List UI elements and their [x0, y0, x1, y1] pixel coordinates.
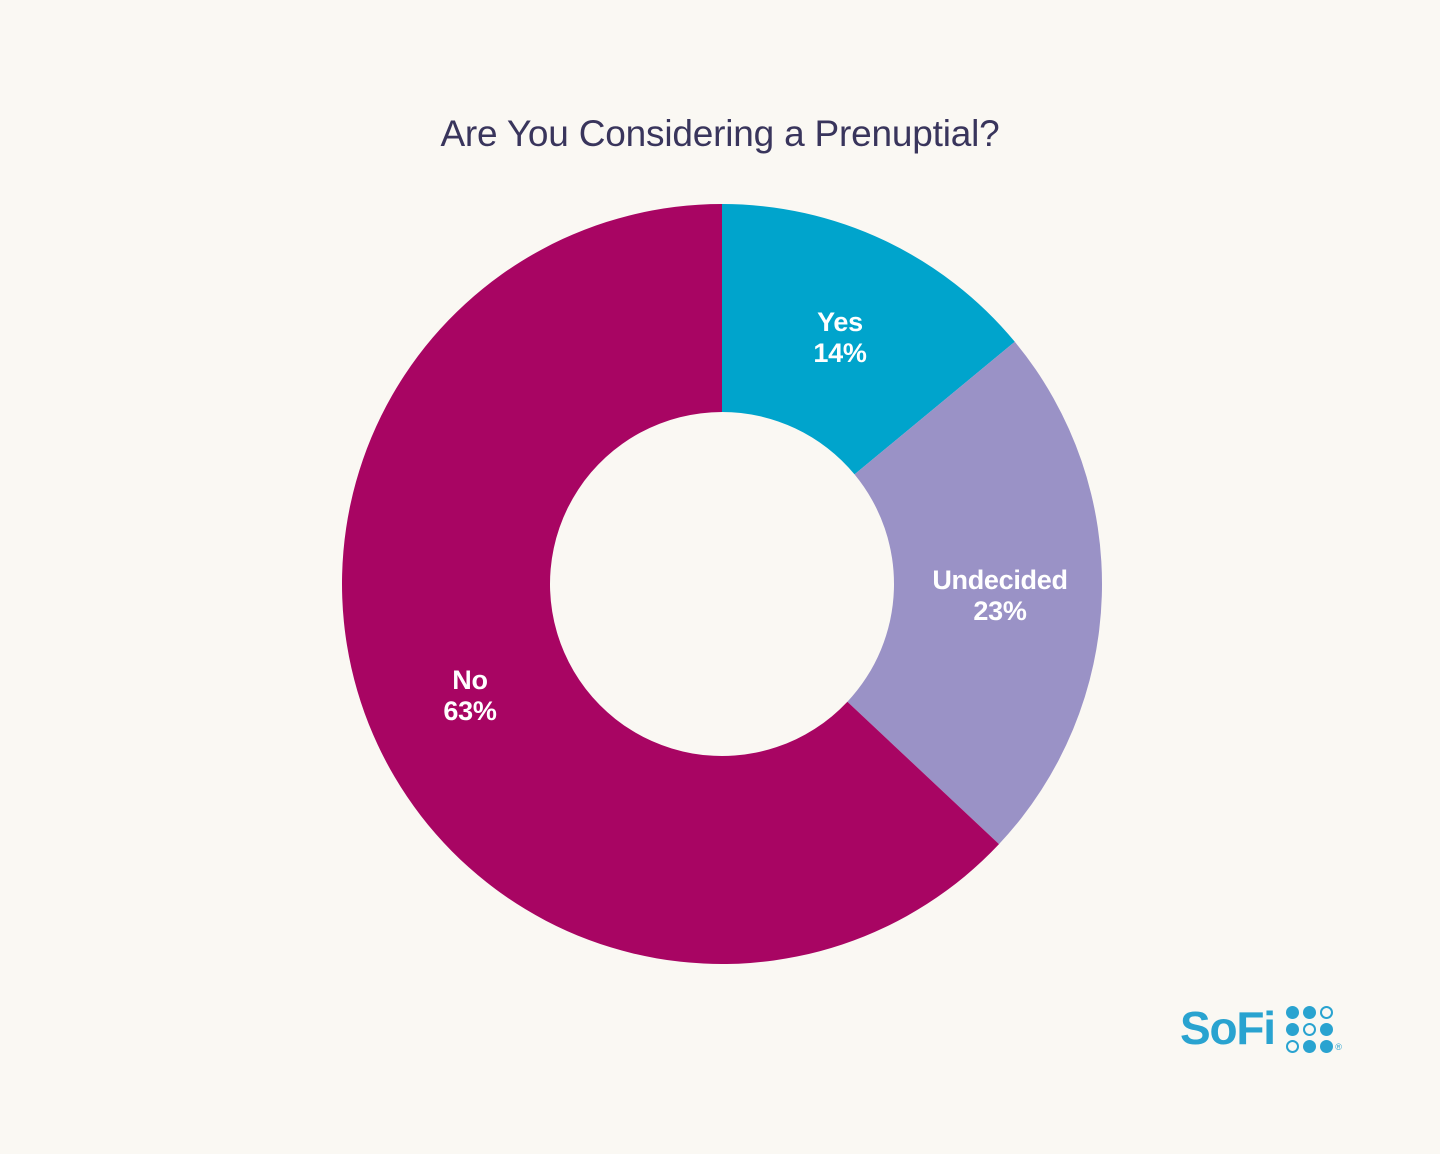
chart-canvas: Are You Considering a Prenuptial? Yes 14…	[0, 0, 1440, 1154]
registered-mark: ®	[1335, 1042, 1342, 1052]
slice-label-yes: Yes 14%	[740, 307, 940, 369]
sofi-logo: SoFi ®	[1180, 1003, 1333, 1053]
chart-title: Are You Considering a Prenuptial?	[0, 112, 1440, 156]
slice-label-no: No 63%	[370, 665, 570, 727]
sofi-dot-5	[1303, 1023, 1316, 1036]
sofi-dot-7	[1286, 1040, 1299, 1053]
sofi-dot-grid-icon: ®	[1286, 1003, 1333, 1053]
slice-label-undecided-value: 23%	[900, 596, 1100, 627]
slice-label-no-value: 63%	[370, 696, 570, 727]
sofi-dot-8	[1303, 1040, 1316, 1053]
slice-label-undecided: Undecided 23%	[900, 565, 1100, 627]
slice-label-undecided-name: Undecided	[900, 565, 1100, 596]
sofi-dot-9	[1320, 1040, 1333, 1053]
slice-label-yes-name: Yes	[740, 307, 940, 338]
slice-label-yes-value: 14%	[740, 338, 940, 369]
sofi-wordmark: SoFi	[1180, 1005, 1275, 1051]
slice-label-no-name: No	[370, 665, 570, 696]
sofi-dot-6	[1320, 1023, 1333, 1036]
sofi-dot-4	[1286, 1023, 1299, 1036]
sofi-dot-2	[1303, 1006, 1316, 1019]
sofi-dot-3	[1320, 1006, 1333, 1019]
sofi-dot-1	[1286, 1006, 1299, 1019]
